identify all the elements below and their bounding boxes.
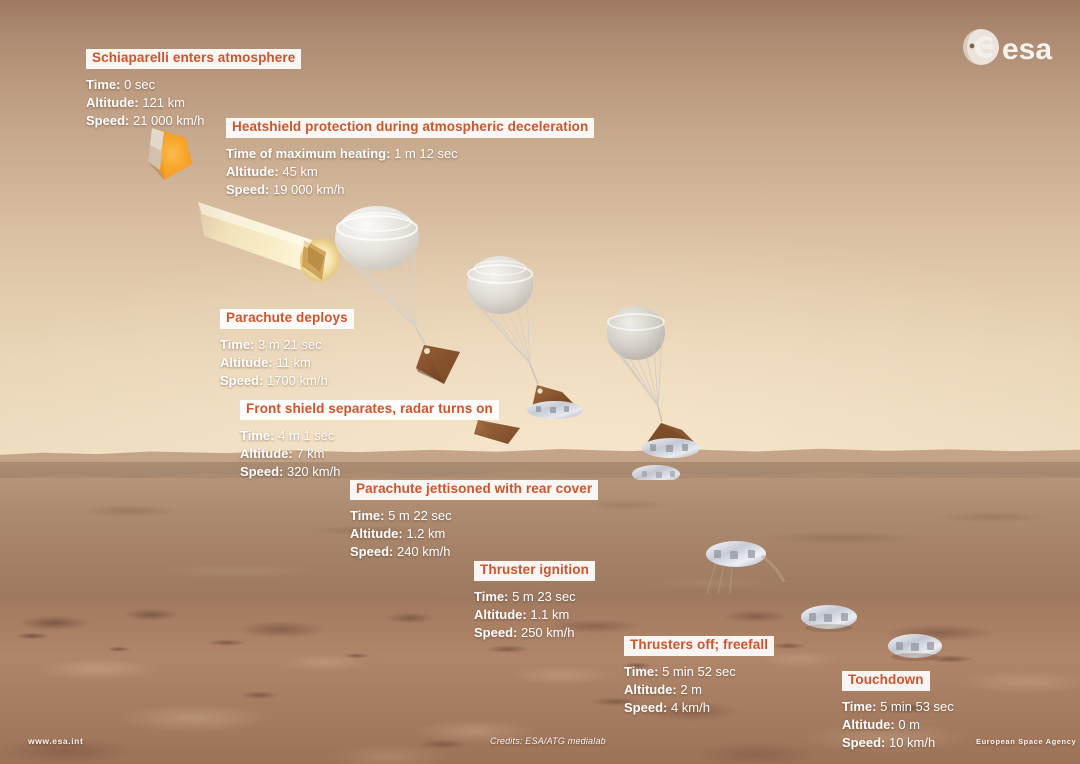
callout-title: Thrusters off; freefall <box>624 636 774 656</box>
esa-website-url[interactable]: www.esa.int <box>28 736 83 746</box>
callout-title: Heatshield protection during atmospheric… <box>226 118 594 138</box>
callout-row: Altitude: 45 km <box>226 163 594 181</box>
agency-name: European Space Agency <box>976 737 1076 746</box>
row-value: 3 m 21 sec <box>258 337 322 352</box>
callout-row: Speed: 19 000 km/h <box>226 181 594 199</box>
callout-row: Altitude: 121 km <box>86 94 301 112</box>
row-key: Time: <box>842 699 876 714</box>
callout-row: Speed: 250 km/h <box>474 624 595 642</box>
callout-row: Altitude: 2 m <box>624 681 774 699</box>
row-value: 7 km <box>296 446 324 461</box>
callout-parachute: Parachute deploys Time: 3 m 21 sec Altit… <box>220 309 354 391</box>
callout-row: Speed: 240 km/h <box>350 543 598 561</box>
row-key: Altitude: <box>220 355 273 370</box>
row-value: 10 km/h <box>889 735 935 750</box>
callout-heatshield: Heatshield protection during atmospheric… <box>226 118 594 200</box>
callout-touchdown: Touchdown Time: 5 min 53 sec Altitude: 0… <box>842 671 954 753</box>
row-value: 250 km/h <box>521 625 574 640</box>
row-value: 4 m 1 sec <box>278 428 334 443</box>
row-key: Altitude: <box>842 717 895 732</box>
row-key: Speed: <box>86 113 129 128</box>
row-value: 4 km/h <box>671 700 710 715</box>
callout-rows: Time of maximum heating: 1 m 12 sec Alti… <box>226 145 594 200</box>
row-key: Altitude: <box>350 526 403 541</box>
callout-row: Time: 5 m 23 sec <box>474 588 595 606</box>
row-key: Altitude: <box>474 607 527 622</box>
esa-wordmark: esa <box>1002 33 1052 66</box>
callout-title: Parachute deploys <box>220 309 354 329</box>
callout-row: Time: 5 m 22 sec <box>350 507 598 525</box>
row-key: Speed: <box>624 700 667 715</box>
row-key: Time: <box>624 664 658 679</box>
row-value: 0 sec <box>124 77 155 92</box>
callout-row: Time of maximum heating: 1 m 12 sec <box>226 145 594 163</box>
row-key: Time of maximum heating: <box>226 146 390 161</box>
callout-thruster-ignition: Thruster ignition Time: 5 m 23 sec Altit… <box>474 561 595 643</box>
callout-front-shield: Front shield separates, radar turns on T… <box>240 400 499 482</box>
touchdown-lander-illustration <box>884 628 948 673</box>
callout-rows: Time: 5 min 52 sec Altitude: 2 m Speed: … <box>624 663 774 718</box>
callout-row: Time: 4 m 1 sec <box>240 427 499 445</box>
parachute-jettison-illustration <box>596 302 726 485</box>
callout-title: Parachute jettisoned with rear cover <box>350 480 598 500</box>
esa-logo[interactable]: esa <box>962 24 1062 70</box>
callout-rows: Time: 5 min 53 sec Altitude: 0 m Speed: … <box>842 698 954 753</box>
callout-row: Altitude: 11 km <box>220 354 354 372</box>
row-value: 21 000 km/h <box>133 113 205 128</box>
row-value: 1.1 km <box>530 607 569 622</box>
row-key: Speed: <box>220 373 263 388</box>
row-key: Speed: <box>226 182 269 197</box>
callout-rows: Time: 3 m 21 sec Altitude: 11 km Speed: … <box>220 336 354 391</box>
callout-row: Altitude: 7 km <box>240 445 499 463</box>
row-key: Altitude: <box>240 446 293 461</box>
callout-title: Touchdown <box>842 671 930 691</box>
callout-thrusters-off: Thrusters off; freefall Time: 5 min 52 s… <box>624 636 774 718</box>
callout-row: Speed: 1700 km/h <box>220 372 354 390</box>
row-key: Time: <box>474 589 508 604</box>
row-key: Altitude: <box>624 682 677 697</box>
row-value: 320 km/h <box>287 464 340 479</box>
callout-rows: Time: 4 m 1 sec Altitude: 7 km Speed: 32… <box>240 427 499 482</box>
row-value: 240 km/h <box>397 544 450 559</box>
row-value: 5 m 23 sec <box>512 589 576 604</box>
callout-jettison: Parachute jettisoned with rear cover Tim… <box>350 480 598 562</box>
infographic-scene: esa Schiaparelli enters atmosphere Time:… <box>0 0 1080 764</box>
plasma-trail-illustration <box>196 196 342 301</box>
callout-row: Time: 3 m 21 sec <box>220 336 354 354</box>
row-key: Speed: <box>350 544 393 559</box>
callout-row: Time: 5 min 52 sec <box>624 663 774 681</box>
row-key: Altitude: <box>226 164 279 179</box>
callout-row: Altitude: 1.1 km <box>474 606 595 624</box>
callout-title: Front shield separates, radar turns on <box>240 400 499 420</box>
row-value: 19 000 km/h <box>273 182 345 197</box>
callout-rows: Time: 5 m 22 sec Altitude: 1.2 km Speed:… <box>350 507 598 562</box>
callout-row: Speed: 10 km/h <box>842 734 954 752</box>
callout-title: Thruster ignition <box>474 561 595 581</box>
callout-row: Time: 0 sec <box>86 76 301 94</box>
row-value: 5 min 53 sec <box>880 699 954 714</box>
callout-row: Altitude: 0 m <box>842 716 954 734</box>
callout-rows: Time: 5 m 23 sec Altitude: 1.1 km Speed:… <box>474 588 595 643</box>
row-value: 11 km <box>276 355 310 370</box>
row-value: 0 m <box>898 717 920 732</box>
row-key: Time: <box>240 428 274 443</box>
callout-title: Schiaparelli enters atmosphere <box>86 49 301 69</box>
row-value: 1.2 km <box>406 526 445 541</box>
row-key: Speed: <box>474 625 517 640</box>
row-value: 1 m 12 sec <box>394 146 458 161</box>
thruster-ignition-illustration <box>700 536 786 603</box>
row-key: Altitude: <box>86 95 139 110</box>
callout-row: Time: 5 min 53 sec <box>842 698 954 716</box>
row-value: 45 km <box>282 164 317 179</box>
row-value: 1700 km/h <box>267 373 328 388</box>
image-credits: Credits: ESA/ATG medialab <box>490 736 606 746</box>
row-value: 2 m <box>680 682 702 697</box>
row-key: Speed: <box>240 464 283 479</box>
row-key: Time: <box>220 337 254 352</box>
callout-row: Speed: 4 km/h <box>624 699 774 717</box>
row-value: 5 min 52 sec <box>662 664 736 679</box>
callout-row: Altitude: 1.2 km <box>350 525 598 543</box>
row-value: 5 m 22 sec <box>388 508 452 523</box>
row-key: Time: <box>350 508 384 523</box>
row-key: Time: <box>86 77 120 92</box>
row-key: Speed: <box>842 735 885 750</box>
row-value: 121 km <box>142 95 185 110</box>
freefall-lander-illustration <box>796 598 864 643</box>
